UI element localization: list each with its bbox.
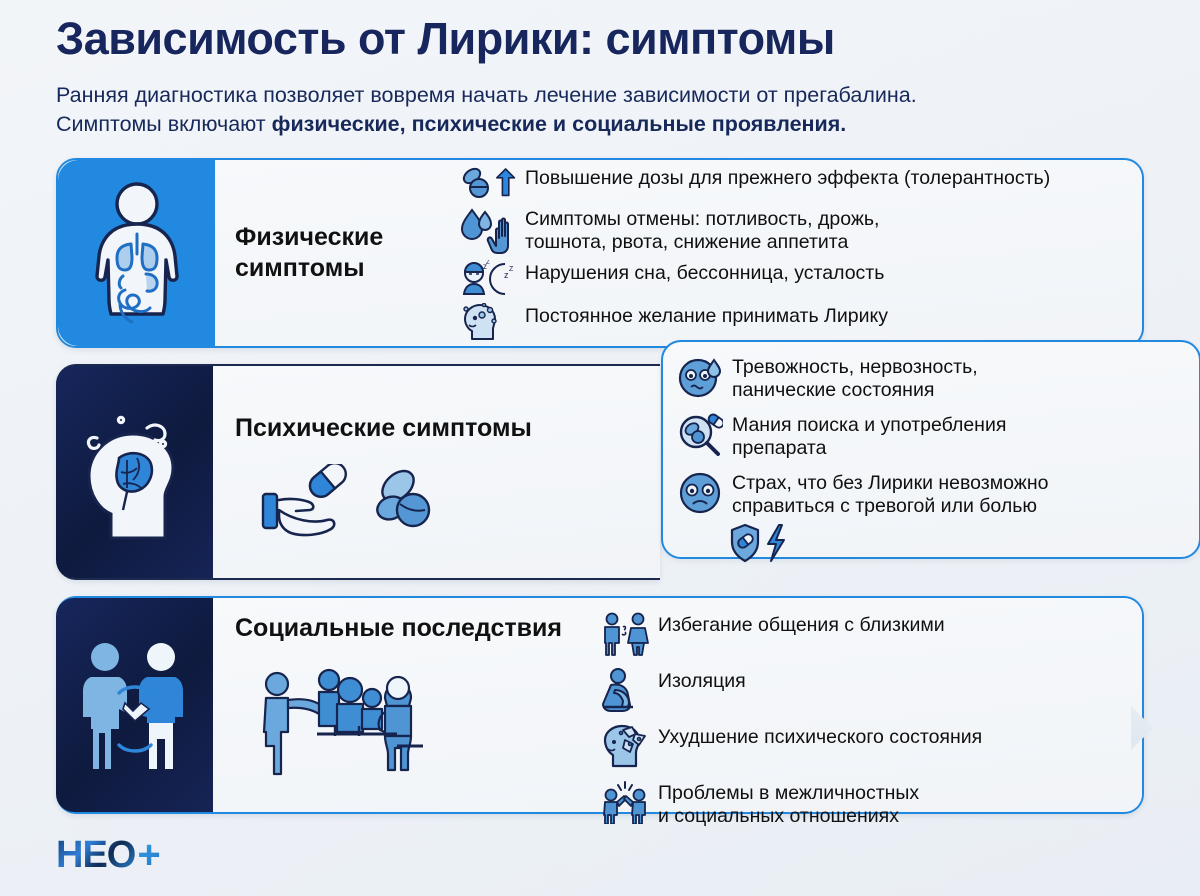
list-item[interactable]: Ухудшение психического состояния [601, 724, 1101, 768]
social-items-list: Избегание общения с близкими Изоляция [601, 612, 1101, 841]
shield-pill-icon [732, 525, 758, 561]
list-item[interactable]: Повышение дозы для прежнего эффекта (тол… [460, 165, 1130, 201]
list-item[interactable]: Страх, что без Лирики невозможносправить… [677, 470, 1185, 519]
list-item[interactable]: Избегание общения с близкими [601, 612, 1101, 656]
subtitle-line-1: Ранняя диагностика позволяет вовремя нач… [56, 81, 1144, 110]
list-item-text: Постоянное желание принимать Лирику [525, 303, 888, 329]
list-item[interactable]: Мания поиска и употребленияпрепарата [677, 412, 1185, 461]
cards-container: Физические симптомы Повышение дозы для п… [0, 158, 1200, 814]
list-item-text: Мания поиска и употребленияпрепарата [732, 412, 1006, 461]
craving-head-icon [460, 303, 516, 341]
head-brain-icon [75, 398, 195, 546]
two-people-conflict-icon [601, 780, 649, 824]
card-physical-symptoms[interactable]: Физические симптомы Повышение дозы для п… [56, 158, 1144, 348]
sleeping-face-moon-icon: z Z z Z [460, 260, 516, 298]
sweat-drops-trembling-hand-icon [460, 206, 516, 254]
list-item-text: Изоляция [658, 668, 746, 693]
two-people-handshake-icon [75, 635, 195, 775]
card-mental-title: Психические симптомы [235, 414, 532, 443]
list-item[interactable]: Постоянное желание принимать Лирику [460, 303, 1130, 341]
panel-social [56, 598, 213, 812]
list-item-text: Страх, что без Лирики невозможносправить… [732, 470, 1048, 519]
person-sitting-alone-icon [601, 668, 649, 712]
next-arrow-icon[interactable] [1131, 706, 1153, 750]
list-item[interactable]: Изоляция [601, 668, 1101, 712]
list-item[interactable]: Тревожность, нервозность,панические сост… [677, 354, 1185, 403]
broken-mind-head-icon [601, 724, 649, 768]
man-woman-avoid-icon [601, 612, 649, 656]
card-physical-title: Физические симптомы [215, 222, 460, 283]
page-header: Зависимость от Лирики: симптомы Ранняя д… [0, 0, 1200, 139]
sad-worried-face-icon [677, 470, 723, 516]
physical-items-list: Повышение дозы для прежнего эффекта (тол… [460, 165, 1142, 342]
panel-physical [58, 160, 215, 346]
page-subtitle: Ранняя диагностика позволяет вовремя нач… [56, 81, 1144, 139]
logo-plus-icon: + [137, 833, 160, 878]
list-item[interactable]: Симптомы отмены: потливость, дрожь,тошно… [460, 206, 1130, 256]
list-item-text: Избегание общения с близкими [658, 612, 945, 637]
svg-text:Z: Z [509, 266, 514, 273]
list-item[interactable]: Проблемы в межличностныхи социальных отн… [601, 780, 1101, 829]
group-of-people-icon [253, 660, 473, 785]
list-item-text: Проблемы в межличностныхи социальных отн… [658, 780, 919, 829]
list-item-text: Повышение дозы для прежнего эффекта (тол… [525, 165, 1050, 191]
list-item[interactable]: z Z z Z Нарушения сна, бессонница, устал… [460, 260, 1130, 298]
list-item-text: Нарушения сна, бессонница, усталость [525, 260, 884, 286]
card-social-consequences[interactable]: Социальные последствия [56, 596, 1144, 814]
mental-left-block: Психические симптомы [56, 364, 660, 580]
human-body-organs-icon [83, 178, 191, 328]
mental-footer-icons [729, 523, 1185, 568]
subtitle-line-2: Симптомы включают физические, психически… [56, 110, 1144, 139]
hand-with-pills-icon [261, 464, 457, 547]
card-mental-symptoms[interactable]: Психические симптомы [56, 364, 1144, 580]
mental-items-panel: Тревожность, нервозность,панические сост… [661, 340, 1200, 559]
subtitle-emphasis: физические, психические и социальные про… [272, 112, 847, 136]
lightning-bolt-icon [768, 525, 784, 561]
logo-text: НЕО [56, 834, 135, 877]
anxious-face-icon [677, 354, 723, 400]
social-body: Социальные последствия [213, 598, 1142, 812]
page-title: Зависимость от Лирики: симптомы [56, 14, 1144, 64]
mental-body: Психические симптомы [213, 366, 660, 578]
list-item-text: Ухудшение психического состояния [658, 724, 982, 749]
card-physical-title-line1: Физические [235, 223, 383, 251]
brand-logo: НЕО + [56, 833, 161, 878]
card-physical-title-line2: симптомы [235, 254, 365, 282]
pills-up-arrow-icon [460, 165, 516, 201]
svg-text:Z: Z [486, 260, 490, 266]
card-social-title: Социальные последствия [235, 614, 562, 643]
list-item-text: Тревожность, нервозность,панические сост… [732, 354, 978, 403]
magnifier-pills-icon [677, 412, 723, 458]
physical-body: Физические симптомы Повышение дозы для п… [215, 160, 1142, 346]
panel-mental [56, 366, 213, 578]
list-item-text: Симптомы отмены: потливость, дрожь,тошно… [525, 206, 879, 256]
subtitle-prefix: Симптомы включают [56, 112, 272, 136]
